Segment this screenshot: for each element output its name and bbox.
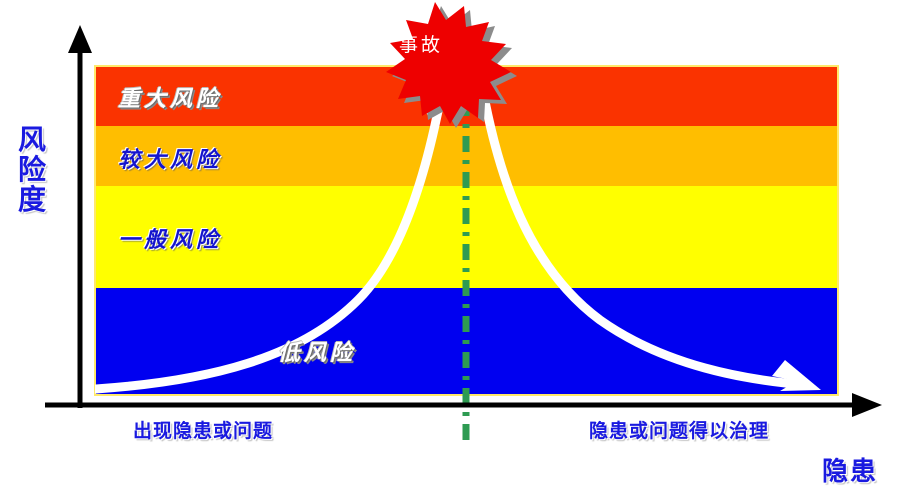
diagram-canvas: 事故 风 险 度 重大风险 较大风险 一般风险 低风险 出现隐患或问题 隐患或问… — [0, 0, 912, 488]
risk-hazard-diagram-svg — [0, 0, 912, 488]
arrow-up-icon — [68, 25, 92, 53]
risk-band-general — [95, 186, 838, 288]
arrow-right-icon — [852, 393, 882, 417]
